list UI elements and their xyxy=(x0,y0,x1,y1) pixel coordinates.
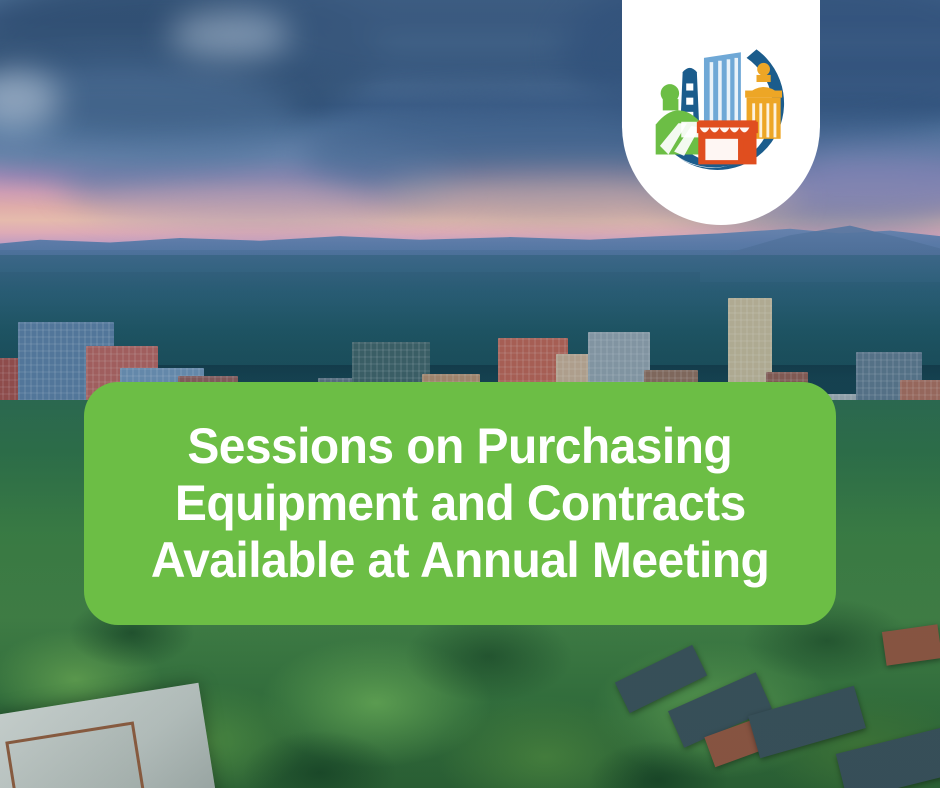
title-line-2: Equipment and Contracts xyxy=(175,475,746,532)
logo-badge xyxy=(622,0,820,225)
title-card: Sessions on Purchasing Equipment and Con… xyxy=(84,382,836,625)
poster-canvas: Sessions on Purchasing Equipment and Con… xyxy=(0,0,940,788)
city-skyline-crescent-icon xyxy=(650,38,792,180)
title-line-3: Available at Annual Meeting xyxy=(151,532,769,589)
red-storefront xyxy=(697,120,758,164)
bright-cloud xyxy=(170,10,290,60)
title-line-1: Sessions on Purchasing xyxy=(188,418,733,475)
sunset-glow-cloud xyxy=(100,190,400,230)
roof-penthouse xyxy=(5,721,145,788)
